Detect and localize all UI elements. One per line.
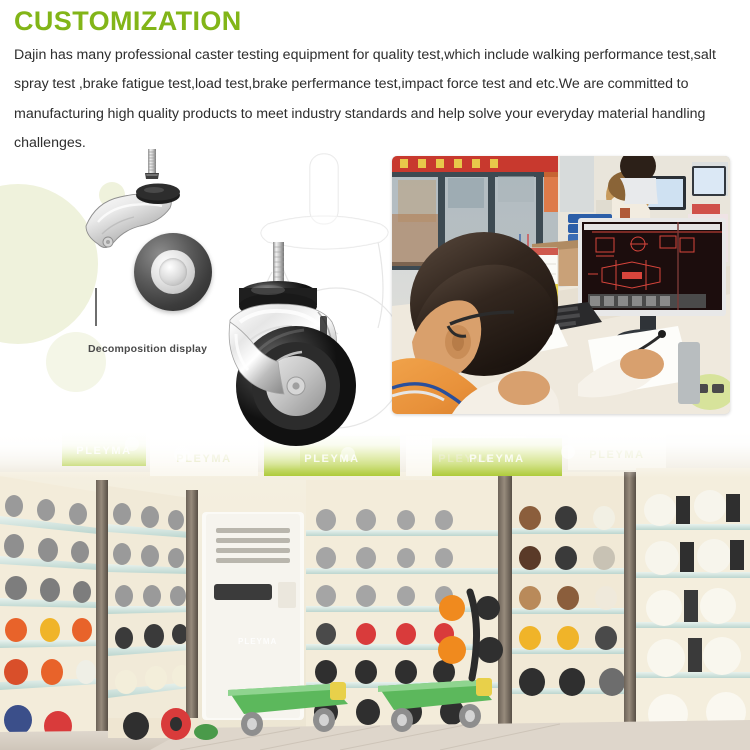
svg-text:PLEYMA: PLEYMA xyxy=(469,453,524,465)
rubber-wheel-part xyxy=(134,233,212,311)
decomposition-rule xyxy=(95,288,97,326)
shelf-bay-left xyxy=(0,476,108,750)
wheel-hub-inner xyxy=(159,258,187,286)
decomposition-display-label: Decomposition display xyxy=(88,343,207,355)
header-block: CUSTOMIZATION Dajin has many professiona… xyxy=(0,0,750,158)
svg-text:PLEYMA: PLEYMA xyxy=(589,449,644,461)
svg-text:PLEYMA: PLEYMA xyxy=(76,445,131,457)
decor-blob-bottom xyxy=(46,332,106,392)
office-design-photo xyxy=(392,156,730,414)
intro-paragraph: Dajin has many professional caster testi… xyxy=(0,35,750,157)
shelf-bay-5 xyxy=(636,468,750,736)
page-title: CUSTOMIZATION xyxy=(0,0,750,35)
svg-text:PLEYMA: PLEYMA xyxy=(238,637,277,646)
shelf-bay-4 xyxy=(512,472,636,736)
showroom-photo: PLEYMA PLEYMA PLEYMA PLEYMA PLEYMA PLEYM… xyxy=(0,432,750,750)
shelf-bay-2 xyxy=(108,486,198,738)
customization-page: CUSTOMIZATION Dajin has many professiona… xyxy=(0,0,750,750)
assembled-swivel-caster xyxy=(222,238,382,450)
